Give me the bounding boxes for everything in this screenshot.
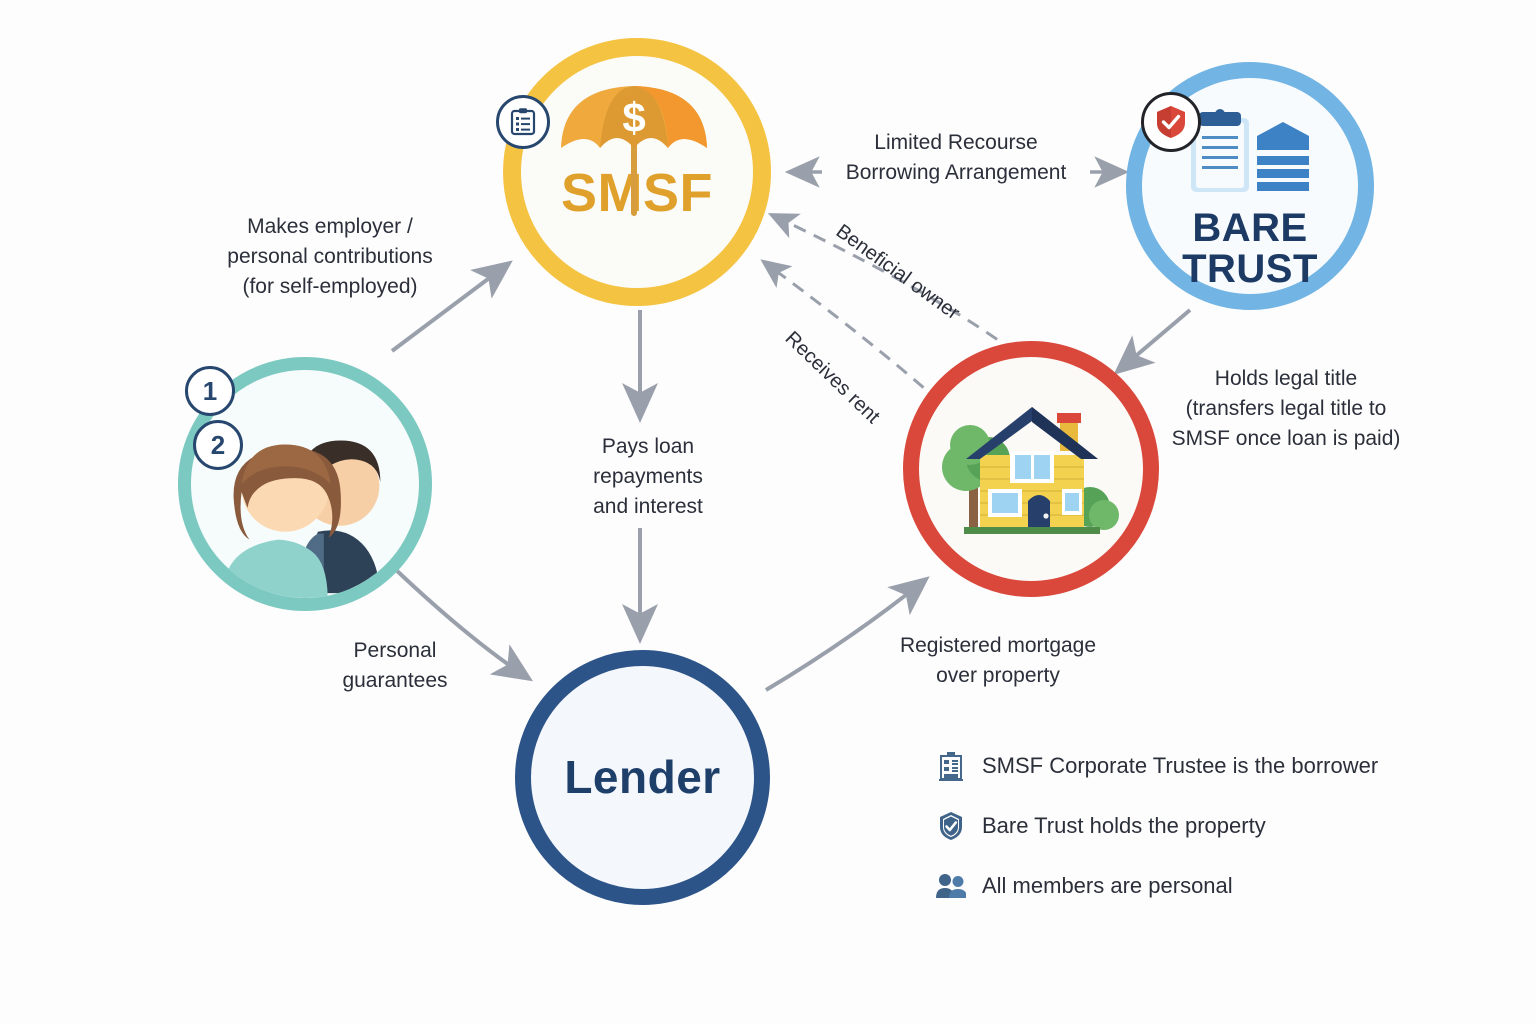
badge-number-1: 1 xyxy=(185,366,235,416)
legend-item: All members are personal xyxy=(936,870,1406,902)
legend-item-label: All members are personal xyxy=(982,873,1233,899)
label-contributions-line1: Makes employer / xyxy=(205,212,455,242)
label-lrba-line2: Borrowing Arrangement xyxy=(830,158,1082,188)
legend-item-label: Bare Trust holds the property xyxy=(982,813,1266,839)
node-lender-label: Lender xyxy=(564,754,720,801)
label-contributions-line3: (for self-employed) xyxy=(205,272,455,302)
label-lrba: Limited Recourse Borrowing Arrangement xyxy=(830,128,1082,188)
node-lender[interactable]: Lender xyxy=(515,650,770,905)
umbrella-dollar-icon: $ xyxy=(551,70,721,230)
two-people-icon xyxy=(191,382,419,611)
clipboard-document-icon xyxy=(1185,108,1315,204)
label-contributions: Makes employer / personal contributions … xyxy=(205,212,455,301)
label-holds-legal-title: Holds legal title (transfers legal title… xyxy=(1162,364,1410,453)
badge-number-2: 2 xyxy=(193,420,243,470)
label-personal-guarantees-line2: guarantees xyxy=(305,666,485,696)
label-registered-mortgage-line2: over property xyxy=(875,661,1121,691)
building-icon xyxy=(936,750,966,782)
two-people-icon xyxy=(936,870,966,902)
label-pays-loan: Pays loan repayments and interest xyxy=(558,432,738,521)
label-registered-mortgage-line1: Registered mortgage xyxy=(875,631,1121,661)
legend-item: SMSF Corporate Trustee is the borrower xyxy=(936,750,1406,782)
legend: SMSF Corporate Trustee is the borrower B… xyxy=(936,750,1406,930)
label-holds-legal-title-line1: Holds legal title xyxy=(1162,364,1410,394)
label-personal-guarantees: Personal guarantees xyxy=(305,636,485,696)
shield-check-icon xyxy=(936,810,966,842)
legend-item-label: SMSF Corporate Trustee is the borrower xyxy=(982,753,1378,779)
clipboard-checklist-icon xyxy=(496,95,550,149)
node-bare-trust-label: BARE TRUST xyxy=(1182,208,1318,290)
node-bare-trust-label-line1: BARE xyxy=(1182,208,1318,249)
shield-check-icon xyxy=(1141,92,1201,152)
arrow-baretrust-to-property xyxy=(1118,310,1190,371)
label-contributions-line2: personal contributions xyxy=(205,242,455,272)
label-pays-loan-line2: repayments xyxy=(558,462,738,492)
house-icon xyxy=(936,389,1126,549)
node-smsf[interactable]: $ SMSF xyxy=(503,38,771,306)
node-bare-trust-label-line2: TRUST xyxy=(1182,249,1318,290)
label-registered-mortgage: Registered mortgage over property xyxy=(875,631,1121,691)
label-holds-legal-title-line2: (transfers legal title to xyxy=(1162,394,1410,424)
label-lrba-line1: Limited Recourse xyxy=(830,128,1082,158)
label-personal-guarantees-line1: Personal xyxy=(305,636,485,666)
label-holds-legal-title-line3: SMSF once loan is paid) xyxy=(1162,424,1410,454)
label-pays-loan-line3: and interest xyxy=(558,492,738,522)
legend-item: Bare Trust holds the property xyxy=(936,810,1406,842)
diagram-canvas: $ SMSF xyxy=(0,0,1536,1024)
label-pays-loan-line1: Pays loan xyxy=(558,432,738,462)
node-property[interactable] xyxy=(903,341,1159,597)
svg-text:$: $ xyxy=(622,94,645,141)
